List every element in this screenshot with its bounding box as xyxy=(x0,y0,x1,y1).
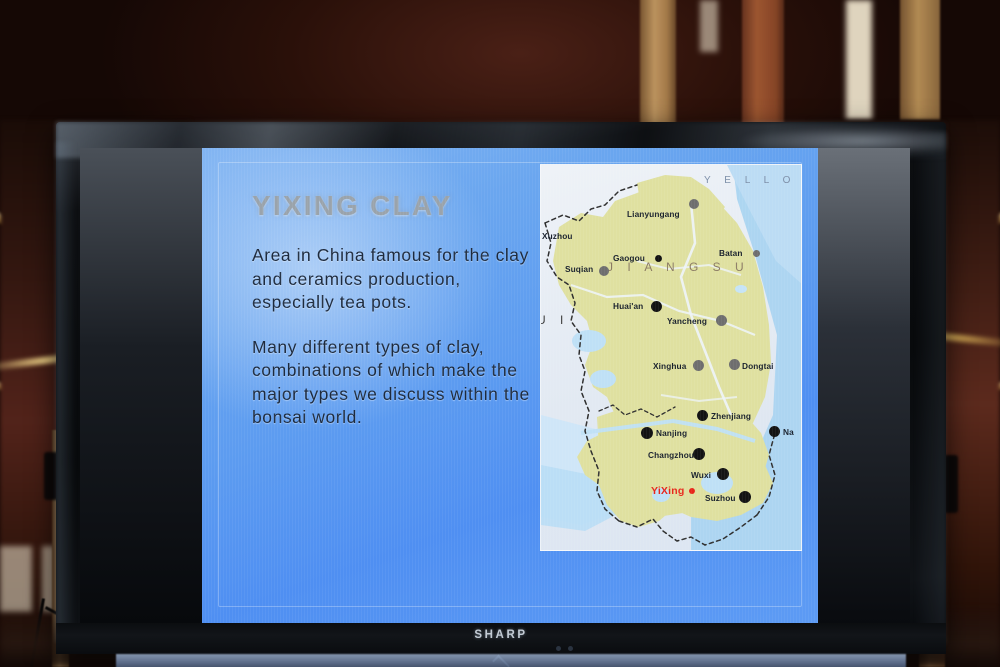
city-dot-zhenjiang xyxy=(697,410,708,421)
bezel-glare-left xyxy=(56,142,82,642)
sunlight-gap xyxy=(846,0,872,120)
city-dot-nanjing xyxy=(641,427,653,439)
ceiling-beam-post-center xyxy=(742,0,784,130)
sunlight-gap-small xyxy=(700,0,718,52)
city-dot-yancheng xyxy=(716,315,727,326)
city-dot-dongtai xyxy=(729,359,740,370)
slide-paragraph-2: Many different types of clay, combinatio… xyxy=(252,336,532,430)
city-dot-nantong xyxy=(769,426,780,437)
jiangsu-province-map: Y E L L O W J I A N G S U U I xyxy=(540,164,802,551)
tv-brand-label: SHARP xyxy=(56,629,946,641)
slide-title: YIXING CLAY xyxy=(252,190,453,222)
map-label-anhui-clipped: U I xyxy=(540,313,569,327)
map-label-zhenjiang: Zhenjiang xyxy=(711,411,751,421)
city-dot-lianyungang xyxy=(689,199,699,209)
map-label-suqian: Suqian xyxy=(565,264,593,274)
map-label-yancheng: Yancheng xyxy=(667,316,707,326)
television: YIXING CLAY Area in China famous for the… xyxy=(56,122,946,654)
slide-body-text: Area in China famous for the clay and ce… xyxy=(252,244,532,451)
letterbox-left xyxy=(80,148,202,623)
city-dot-gaogou xyxy=(655,255,662,262)
map-label-yellow-sea: Y E L L O W xyxy=(704,175,802,186)
map-label-suzhou: Suzhou xyxy=(705,493,736,503)
map-label-nantong-clipped: Na xyxy=(783,427,794,437)
map-label-dongtai: Dongtai xyxy=(742,361,774,371)
city-dot-suqian xyxy=(599,266,609,276)
window-light-1 xyxy=(0,546,32,612)
presentation-slide: YIXING CLAY Area in China famous for the… xyxy=(202,148,818,623)
map-label-gaogou: Gaogou xyxy=(613,253,645,263)
city-dot-suzhou xyxy=(739,491,751,503)
tv-screen: YIXING CLAY Area in China famous for the… xyxy=(80,148,910,623)
map-label-batan: Batan xyxy=(719,248,743,258)
city-dot-wuxi xyxy=(717,468,729,480)
tv-stand-bar xyxy=(116,654,906,667)
ceiling-beam-post-right xyxy=(900,0,940,120)
power-led-dot xyxy=(568,646,573,651)
ir-sensor-dot xyxy=(556,646,561,651)
city-dot-batan xyxy=(753,250,760,257)
map-label-nanjing: Nanjing xyxy=(656,428,687,438)
city-dot-huaian xyxy=(651,301,662,312)
map-label-huaian: Huai'an xyxy=(613,301,643,311)
ceiling-beam-post-left xyxy=(640,0,676,125)
map-label-changzhou: Changzhou xyxy=(648,450,694,460)
city-dot-xinghua xyxy=(693,360,704,371)
map-label-xuzhou: Xuzhou xyxy=(542,231,573,241)
slide-paragraph-1: Area in China famous for the clay and ce… xyxy=(252,244,532,315)
city-dot-yixing xyxy=(689,488,695,494)
map-label-wuxi: Wuxi xyxy=(691,470,711,480)
tv-bottom-bezel: SHARP xyxy=(56,623,946,654)
letterbox-right xyxy=(818,148,910,623)
city-dot-changzhou xyxy=(693,448,705,460)
map-label-yixing: YiXing xyxy=(651,485,684,497)
map-label-lianyungang: Lianyungang xyxy=(627,209,680,219)
map-label-xinghua: Xinghua xyxy=(653,361,686,371)
